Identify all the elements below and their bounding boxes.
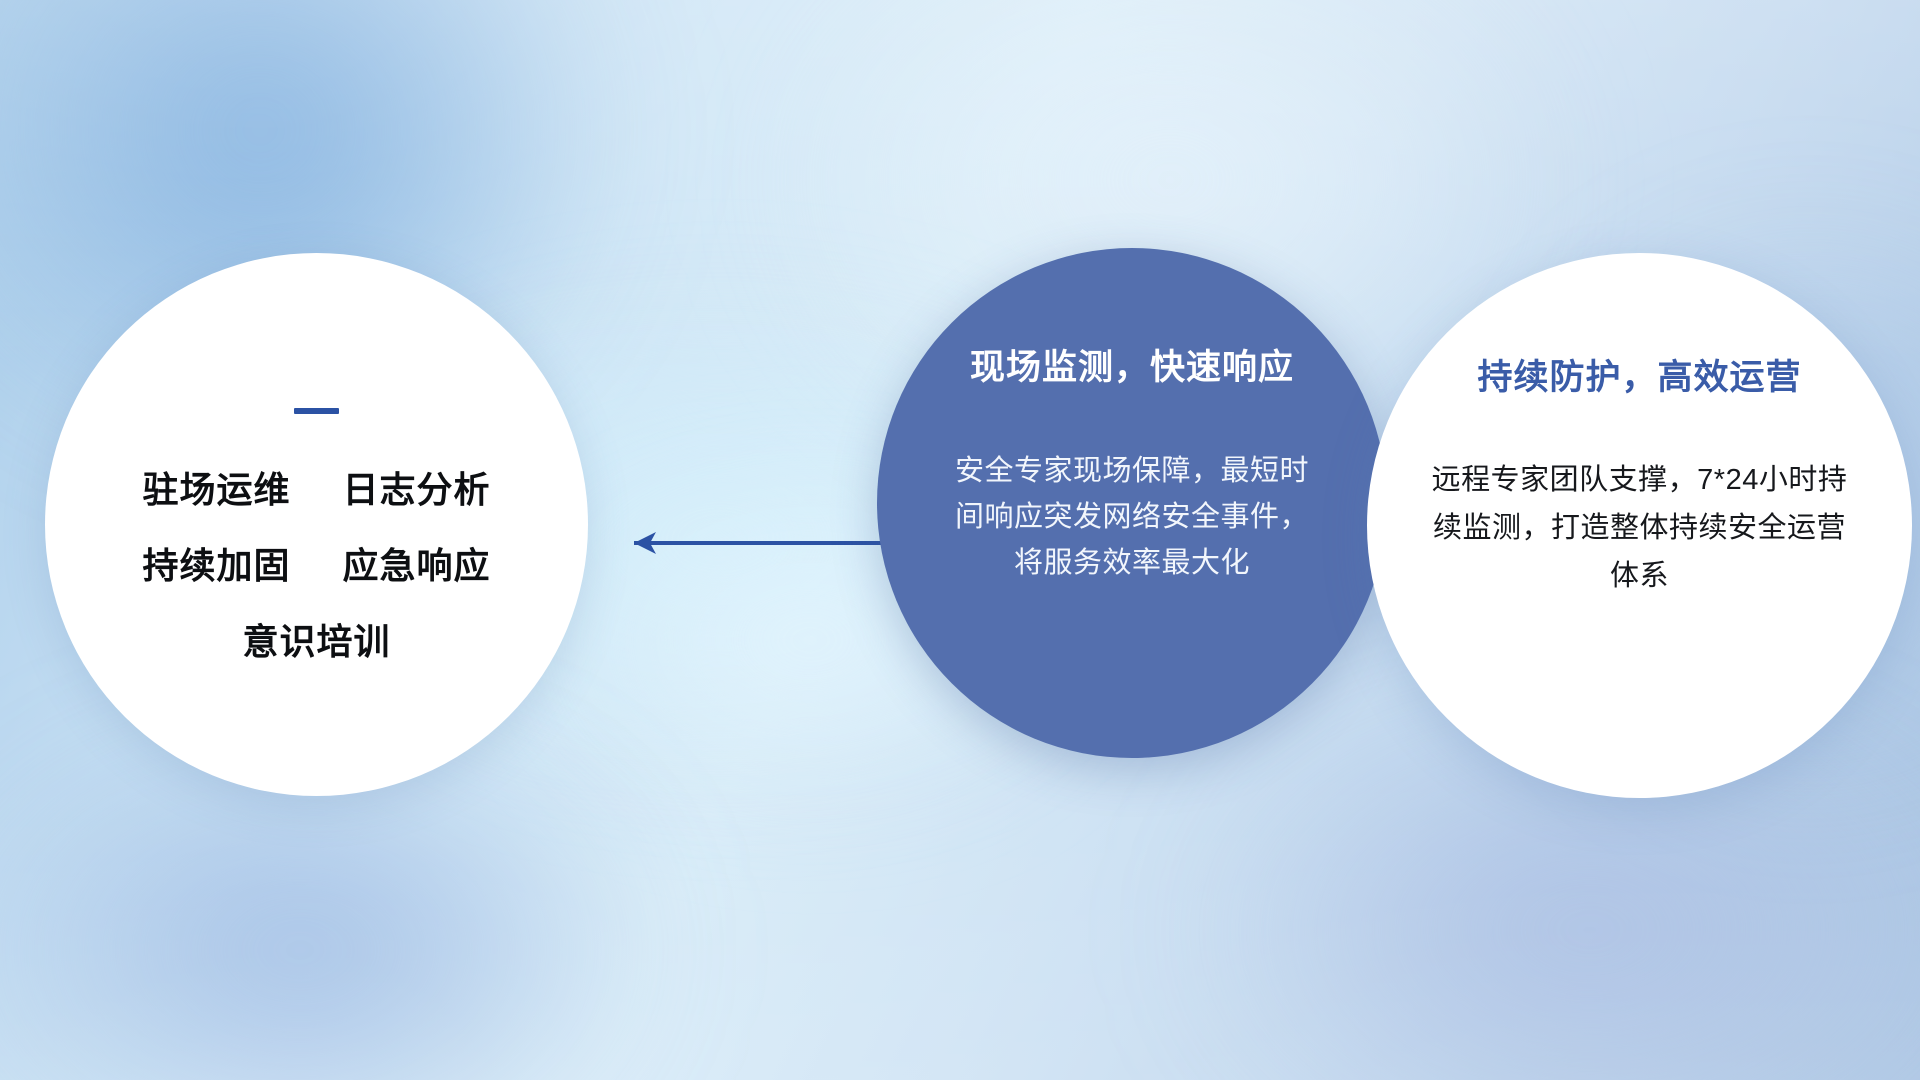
onsite-monitoring-circle[interactable]: 现场监测，快速响应 安全专家现场保障，最短时间响应突发网络安全事件，将服务效率最… <box>877 248 1387 758</box>
capability-tag: 意识培训 <box>242 621 390 662</box>
onsite-monitoring-title: 现场监测，快速响应 <box>970 339 1294 390</box>
capability-tag-row: 驻场运维 日志分析 <box>142 452 490 528</box>
continuous-protection-body: 远程专家团队支撑，7*24小时持续监测，打造整体持续安全运营体系 <box>1420 456 1860 600</box>
capability-tag-row: 持续加固 应急响应 <box>142 528 490 604</box>
arrow-left-icon <box>612 527 887 559</box>
connector-arrow <box>612 527 887 559</box>
capability-tag: 应急响应 <box>343 545 491 586</box>
capability-tag-row: 意识培训 <box>142 604 490 680</box>
capability-tag-list: 驻场运维 日志分析 持续加固 应急响应 意识培训 <box>142 452 490 680</box>
onsite-monitoring-body: 安全专家现场保障，最短时间响应突发网络安全事件，将服务效率最大化 <box>945 448 1320 586</box>
continuous-protection-title: 持续防护，高效运营 <box>1477 349 1801 400</box>
continuous-protection-circle[interactable]: 持续防护，高效运营 远程专家团队支撑，7*24小时持续监测，打造整体持续安全运营… <box>1367 253 1912 798</box>
capability-tag: 持续加固 <box>142 545 290 586</box>
capability-circle[interactable]: 驻场运维 日志分析 持续加固 应急响应 意识培训 <box>45 253 588 796</box>
divider-dash <box>294 408 339 414</box>
slide-canvas: 驻场运维 日志分析 持续加固 应急响应 意识培训 现场监测，快速响应 安全专家现… <box>0 0 1920 1080</box>
capability-tag: 驻场运维 <box>142 469 290 510</box>
capability-tag: 日志分析 <box>343 469 491 510</box>
